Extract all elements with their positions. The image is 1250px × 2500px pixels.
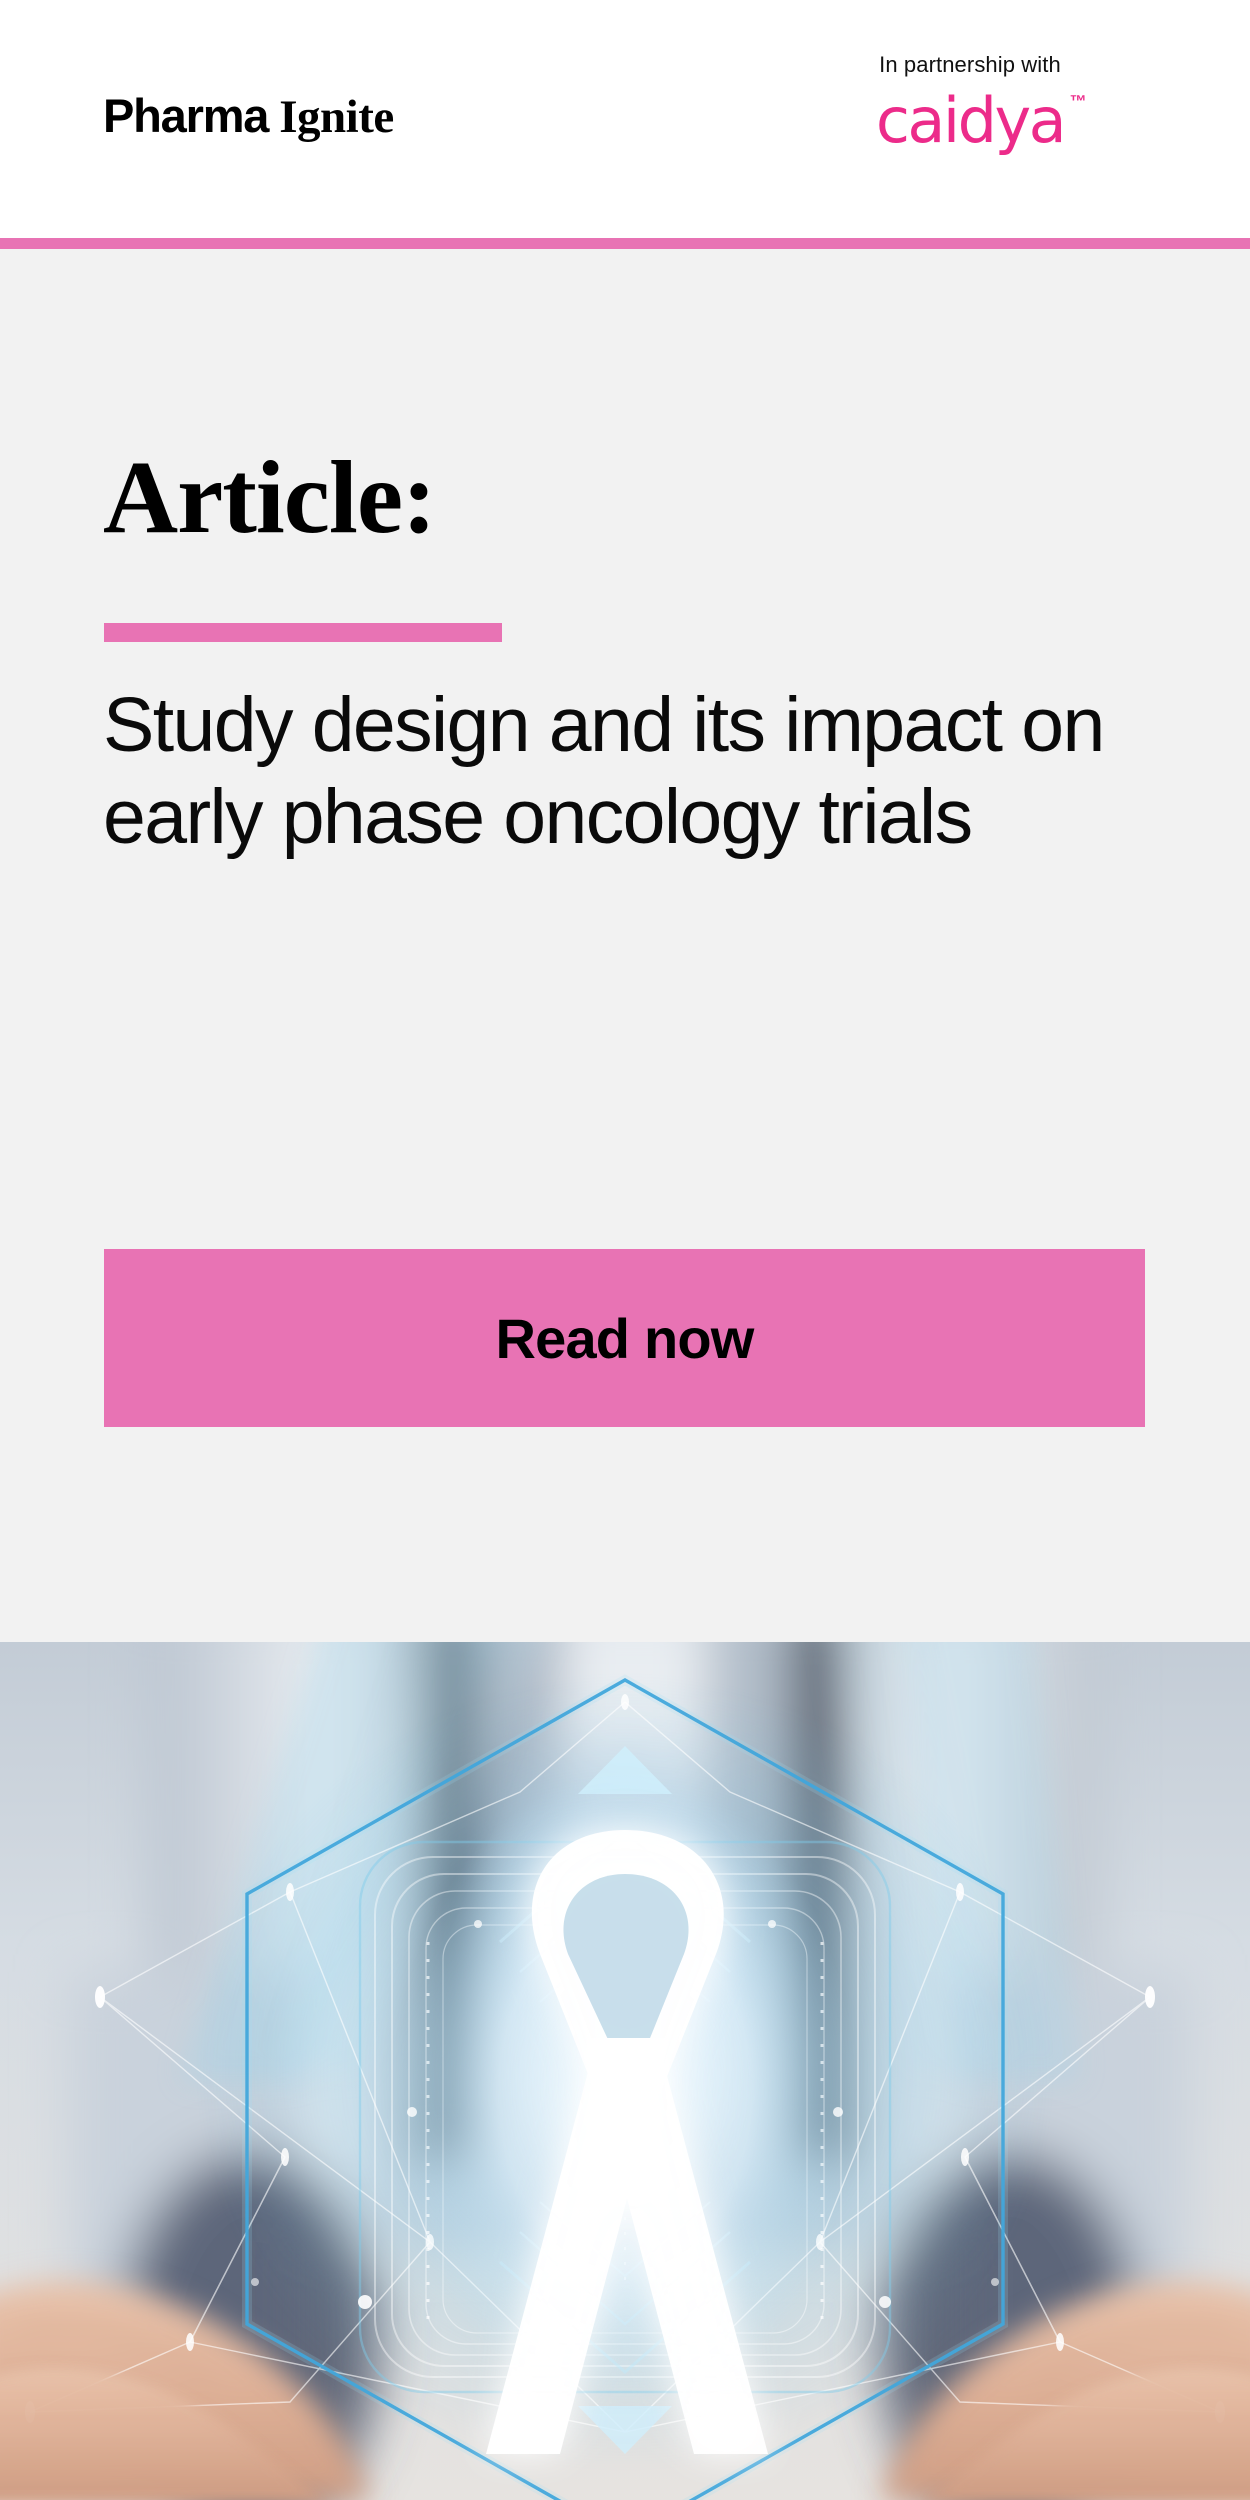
header-divider <box>0 238 1250 249</box>
promo-page: PharmaIgnite In partnership with caidya … <box>0 0 1250 2500</box>
page-title: Study design and its impact on early pha… <box>103 680 1153 863</box>
partnership-label: In partnership with <box>820 52 1120 78</box>
read-now-button[interactable]: Read now <box>104 1249 1145 1427</box>
partner-block: In partnership with caidya ™ <box>820 52 1120 152</box>
pharma-ignite-logo[interactable]: PharmaIgnite <box>103 92 394 141</box>
caidya-wordmark: caidya <box>876 90 1064 152</box>
brand-name-part2: Ignite <box>279 91 394 143</box>
brand-name-part1: Pharma <box>103 89 268 142</box>
hero-image <box>0 1642 1250 2500</box>
page-header: PharmaIgnite In partnership with caidya … <box>0 0 1250 238</box>
caidya-logo[interactable]: caidya ™ <box>876 90 1064 152</box>
promo-content-panel: Article: Study design and its impact on … <box>0 249 1250 1642</box>
hero-illustration <box>0 1642 1250 2500</box>
accent-rule <box>104 623 502 642</box>
article-kicker: Article: <box>103 446 436 550</box>
trademark-icon: ™ <box>1070 92 1087 112</box>
